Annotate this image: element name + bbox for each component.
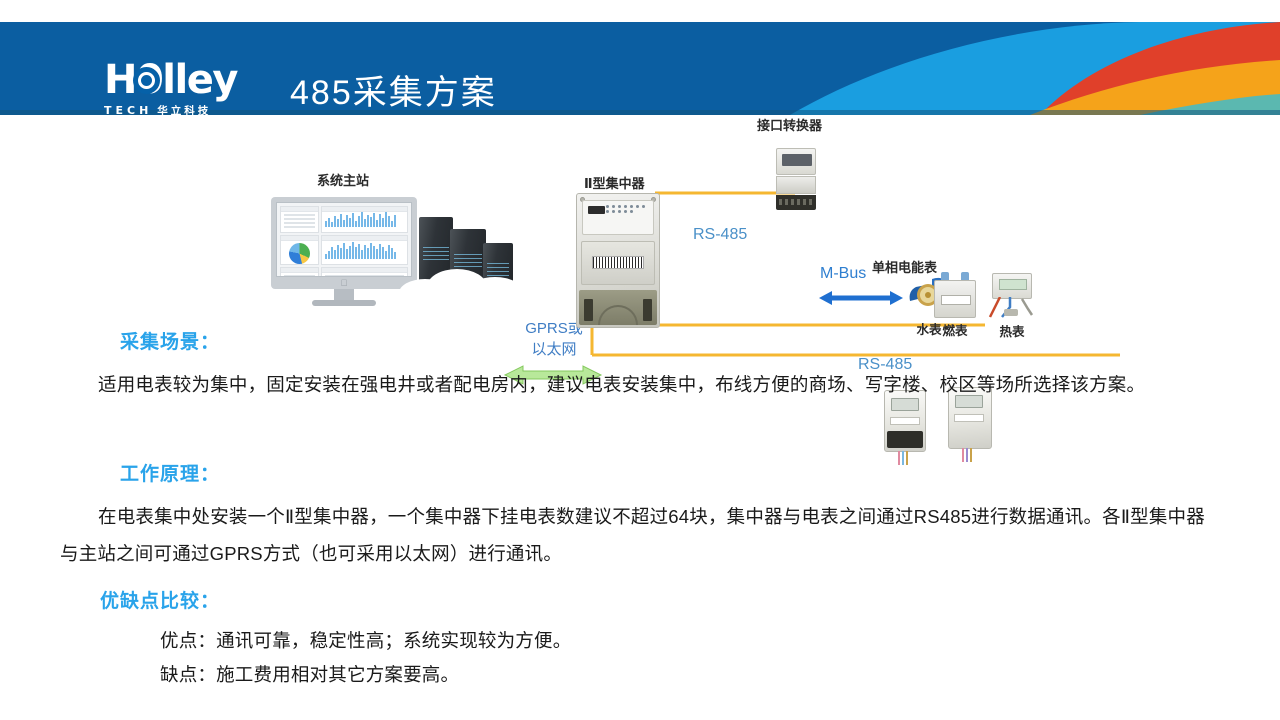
dashboard-panel xyxy=(321,235,408,265)
holley-logo: H0lley TECH 华立科技 xyxy=(104,60,262,115)
dashboard-pie-chart xyxy=(289,243,310,264)
converter-mid xyxy=(776,176,816,194)
section-heading-proscons: 优缺点比较： xyxy=(100,586,220,613)
barcode-label xyxy=(592,256,644,269)
bullet-disadvantage: 缺点：施工费用相对其它方案要高。 xyxy=(160,658,459,692)
mbus-double-arrow-icon xyxy=(818,290,904,306)
gprs-line-2: 以太网 xyxy=(508,339,600,360)
electric-meter-label xyxy=(890,417,920,425)
page-title: 485采集方案 xyxy=(290,65,497,114)
heat-meter-body xyxy=(992,273,1032,299)
slide-header: H0lley TECH 华立科技 485采集方案 xyxy=(0,22,1280,115)
section-heading-principle: 工作原理： xyxy=(120,459,220,486)
label-mbus-link: M-Bus xyxy=(820,265,866,283)
dashboard-panel xyxy=(280,206,319,233)
converter-top xyxy=(776,148,816,175)
section-paragraph-scene-text: 适用电表较为集中，固定安装在强电井或者配电房内，建议电表安装集中，布线方便的商场… xyxy=(98,374,1145,395)
logo-chinese-text: 华立科技 xyxy=(157,103,211,115)
monitor-base xyxy=(312,300,376,306)
section-paragraph-scene: 适用电表较为集中，固定安装在强电井或者配电房内，建议电表安装集中，布线方便的商场… xyxy=(60,366,1220,403)
dashboard-panel xyxy=(321,267,408,277)
label-rs485-top: RS-485 xyxy=(693,226,747,244)
heat-meter-display xyxy=(999,279,1027,290)
dashboard-panel xyxy=(280,267,319,277)
gas-meter-device: 燃表 xyxy=(934,272,976,318)
heat-meter-device: 热表 xyxy=(988,273,1036,319)
meter-wire-pair xyxy=(898,451,908,465)
gas-meter-body xyxy=(934,280,976,318)
cloud-icon xyxy=(399,263,551,307)
master-station-monitor:  xyxy=(271,197,417,307)
apple-logo-icon:  xyxy=(341,278,348,288)
label-electric-meters: 单相电能表 xyxy=(872,257,937,276)
concentrator-led-array xyxy=(606,205,648,213)
monitor-screen xyxy=(276,202,412,277)
concentrator-indicator xyxy=(588,206,605,214)
label-concentrator: Ⅱ型集中器 xyxy=(584,173,645,192)
concentrator-mid-panel xyxy=(581,241,655,285)
converter-terminals xyxy=(776,195,816,210)
concentrator-device xyxy=(576,193,660,328)
concentrator-terminal-block xyxy=(579,290,657,325)
section-paragraph-principle: 在电表集中处安装一个Ⅱ型集中器，一个集中器下挂电表数建议不超过64块，集中器与电… xyxy=(60,498,1220,572)
bullet-advantage: 优点：通讯可靠，稳定性高；系统实现较为方便。 xyxy=(160,624,571,658)
dashboard-bar-chart xyxy=(322,241,407,261)
logo-tech-text: TECH xyxy=(104,104,152,115)
slide: H0lley TECH 华立科技 485采集方案 xyxy=(0,0,1280,720)
interface-converter-device xyxy=(776,148,816,210)
electric-meter-terminals xyxy=(887,431,923,448)
section-paragraph-principle-text: 在电表集中处安装一个Ⅱ型集中器，一个集中器下挂电表数建议不超过64块，集中器与电… xyxy=(60,506,1205,564)
logo-subtitle: TECH 华立科技 xyxy=(104,103,262,115)
terminal-cover xyxy=(598,305,638,325)
gas-meter-dial xyxy=(941,295,971,305)
label-heat-meter: 热表 xyxy=(988,321,1036,340)
meter-wire-pair xyxy=(962,448,972,462)
electric-meter-label xyxy=(954,414,984,422)
label-master-station: 系统主站 xyxy=(317,170,369,189)
label-interface-converter: 接口转换器 xyxy=(757,115,822,134)
logo-wordmark-text: H0lley xyxy=(104,57,237,103)
logo-wordmark: H0lley xyxy=(104,60,262,100)
dashboard-bar-chart xyxy=(322,212,407,229)
dashboard-panel xyxy=(321,206,408,233)
heat-meter-sensors xyxy=(988,297,1036,319)
section-heading-scene: 采集场景： xyxy=(120,327,220,354)
dashboard-panel xyxy=(280,235,319,265)
concentrator-top-panel xyxy=(582,200,654,235)
converter-display xyxy=(782,154,812,166)
logo-ring-icon xyxy=(133,67,160,94)
monitor-frame:  xyxy=(271,197,417,289)
label-gas-meter: 燃表 xyxy=(934,320,976,339)
